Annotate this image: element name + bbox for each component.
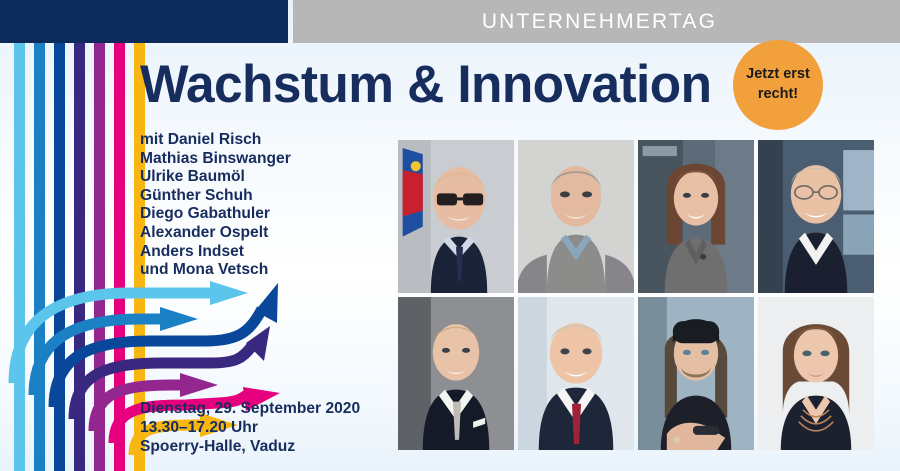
speaker-line: Anders Indset	[140, 243, 291, 262]
speaker-line: und Mona Vetsch	[140, 261, 291, 280]
speaker-line: Diego Gabathuler	[140, 205, 291, 224]
event-venue: Spoerry-Halle, Vaduz	[140, 437, 360, 456]
speaker-photo-daniel-risch	[398, 140, 514, 293]
speaker-line: Mathias Binswanger	[140, 150, 291, 169]
speaker-line: Günther Schuh	[140, 187, 291, 206]
event-poster: UNTERNEHMERTAG	[0, 0, 900, 471]
stripe-blue-tail	[34, 43, 45, 471]
speaker-photo-grid	[398, 140, 874, 450]
speaker-photo-alexander-ospelt	[518, 297, 634, 450]
speaker-list: mit Daniel Risch Mathias Binswanger Ulri…	[140, 131, 291, 280]
stripe-magenta-tail	[114, 43, 125, 471]
speaker-line: mit Daniel Risch	[140, 131, 291, 150]
event-date: Dienstag, 29. September 2020	[140, 399, 360, 418]
speaker-line: Alexander Ospelt	[140, 224, 291, 243]
badge-line-2: recht!	[758, 85, 798, 105]
speaker-photo-guenther-schuh	[758, 140, 874, 293]
navy-header-block	[0, 0, 288, 43]
badge-line-1: Jetzt erst	[746, 65, 810, 85]
speaker-photo-ulrike-baumoel	[638, 140, 754, 293]
speaker-photo-mona-vetsch	[758, 297, 874, 450]
event-details: Dienstag, 29. September 2020 13.30–17.20…	[140, 399, 360, 456]
speaker-photo-diego-gabathuler	[398, 297, 514, 450]
event-label-bar: UNTERNEHMERTAG	[293, 0, 900, 43]
speaker-photo-anders-indset	[638, 297, 754, 450]
speaker-line: Ulrike Baumöl	[140, 168, 291, 187]
status-badge: Jetzt erst recht!	[733, 40, 823, 130]
event-label: UNTERNEHMERTAG	[293, 0, 900, 43]
event-time: 13.30–17.20 Uhr	[140, 418, 360, 437]
speaker-photo-mathias-binswanger	[518, 140, 634, 293]
stripe-light-blue-tail	[14, 43, 25, 471]
page-title: Wachstum & Innovation	[140, 57, 722, 113]
